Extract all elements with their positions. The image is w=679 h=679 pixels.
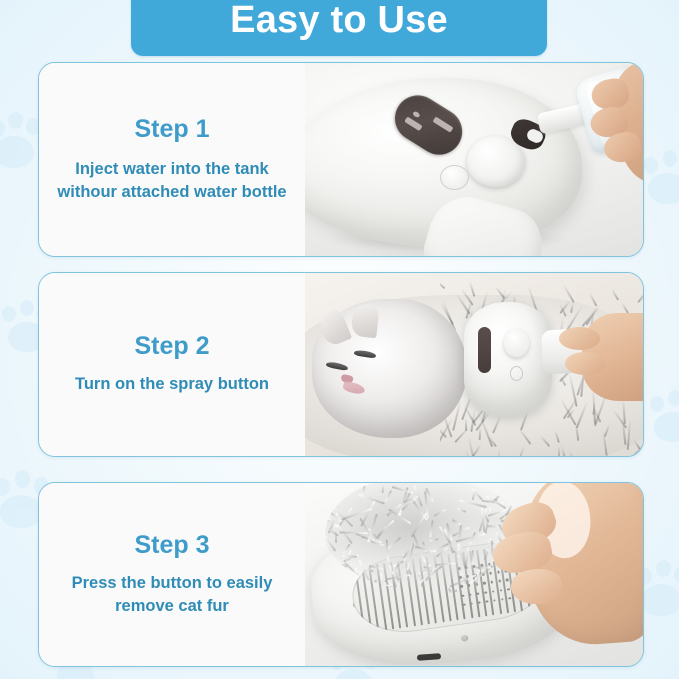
paw-print <box>644 150 679 208</box>
step-2-title: Step 2 <box>134 332 209 361</box>
cat-eye-left <box>325 361 348 371</box>
page-title: Easy to Use <box>230 1 448 41</box>
finger <box>511 569 562 604</box>
hand-holding-brush <box>582 313 643 401</box>
cat-ear-left <box>316 307 353 348</box>
step-2-text-panel: Step 2 Turn on the spray button <box>39 273 305 456</box>
step-1-photo <box>305 63 643 256</box>
collected-cat-fur <box>325 483 521 593</box>
cat-eye-right <box>353 350 375 360</box>
step-2-description: Turn on the spray button <box>75 373 269 396</box>
step-3-text-panel: Step 3 Press the button to easily remove… <box>39 483 305 666</box>
step-1-title: Step 1 <box>134 115 209 144</box>
cat-head <box>312 299 467 438</box>
brush-display-panel <box>478 327 491 372</box>
step-2-photo <box>305 273 643 456</box>
header-banner-area: Easy to Use <box>0 0 679 58</box>
hand-holding-bottle <box>606 63 643 189</box>
step-3-title: Step 3 <box>134 531 209 560</box>
paw-print <box>650 390 679 446</box>
cat-mouth <box>342 381 365 396</box>
brush-screw-hole <box>461 635 468 641</box>
step-1-text-panel: Step 1 Inject water into the tank withou… <box>39 63 305 256</box>
step-card-3: Step 3 Press the button to easily remove… <box>38 482 644 667</box>
header-banner: Easy to Use <box>131 0 547 56</box>
brush-power-button <box>510 366 523 381</box>
cat-ear-right <box>350 303 380 339</box>
step-3-description: Press the button to easily remove cat fu… <box>56 572 288 619</box>
brush-spray-button <box>504 329 529 356</box>
product-infographic: Easy to Use Step 1 Inject water into the… <box>0 0 679 679</box>
step-card-2: Step 2 Turn on the spray button <box>38 272 644 457</box>
step-card-1: Step 1 Inject water into the tank withou… <box>38 62 644 257</box>
step-3-photo <box>305 483 643 666</box>
grooming-brush-head <box>464 302 552 415</box>
step-1-description: Inject water into the tank withour attac… <box>56 158 288 205</box>
